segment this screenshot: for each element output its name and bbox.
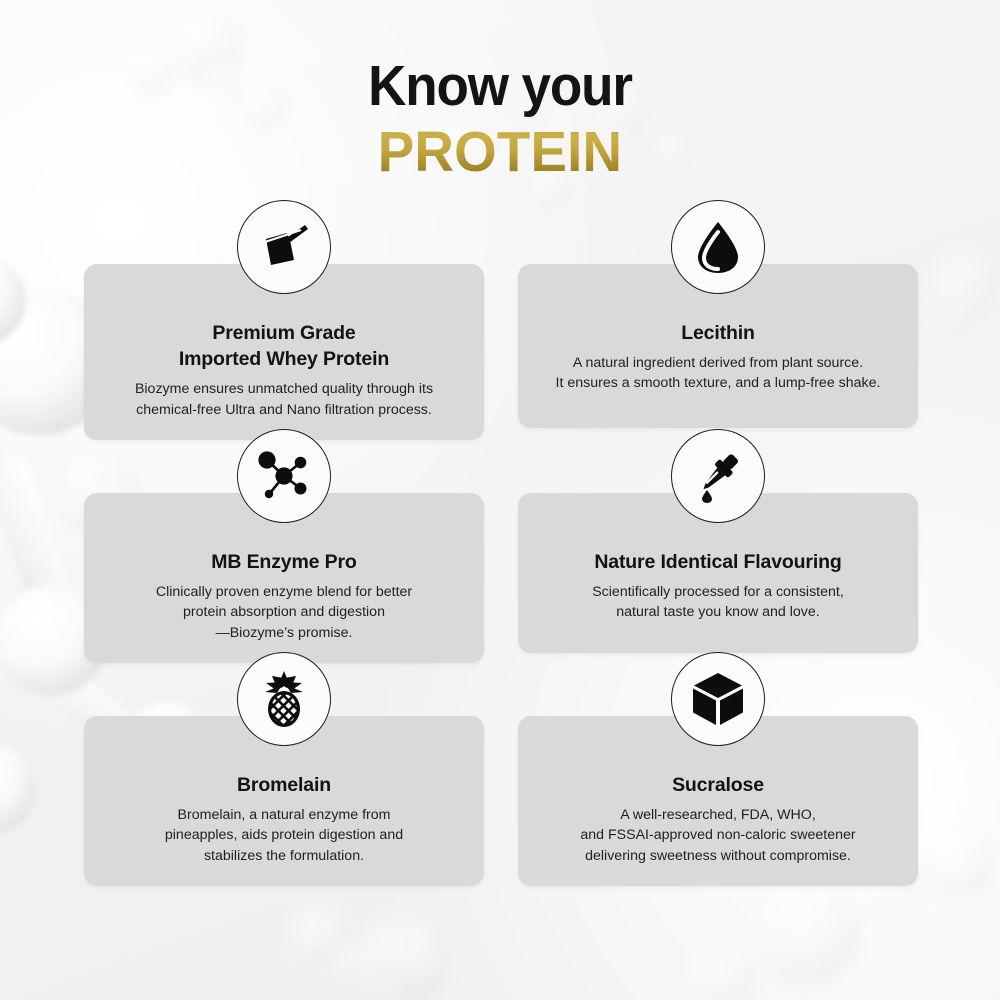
water-drop-icon <box>671 200 765 294</box>
card-title: Nature Identical Flavouring <box>536 549 900 575</box>
molecule-network-icon <box>237 429 331 523</box>
sugar-cube-icon <box>671 652 765 746</box>
ingredient-card-grid: Premium Grade Imported Whey Protein Bioz… <box>84 264 918 886</box>
card-description: A natural ingredient derived from plant … <box>536 353 900 394</box>
ingredient-card-lecithin: Lecithin A natural ingredient derived fr… <box>518 264 918 440</box>
card-description: Biozyme ensures unmatched quality throug… <box>102 379 466 420</box>
protein-scoop-icon <box>237 200 331 294</box>
card-surface: Nature Identical Flavouring Scientifical… <box>518 493 918 653</box>
card-description: Clinically proven enzyme blend for bette… <box>102 582 466 643</box>
card-surface: Premium Grade Imported Whey Protein Bioz… <box>84 264 484 440</box>
page-title-line1: Know your <box>35 58 965 115</box>
card-title: Bromelain <box>102 772 466 798</box>
card-surface: Sucralose A well-researched, FDA, WHO, a… <box>518 716 918 886</box>
card-title: Sucralose <box>536 772 900 798</box>
card-title: MB Enzyme Pro <box>102 549 466 575</box>
card-title: Lecithin <box>536 320 900 346</box>
ingredient-card-mb-enzyme-pro: MB Enzyme Pro Clinically proven enzyme b… <box>84 493 484 663</box>
card-surface: MB Enzyme Pro Clinically proven enzyme b… <box>84 493 484 663</box>
pineapple-icon <box>237 652 331 746</box>
ingredient-card-premium-grade-imported-whey-protein: Premium Grade Imported Whey Protein Bioz… <box>84 264 484 440</box>
card-surface: Bromelain Bromelain, a natural enzyme fr… <box>84 716 484 886</box>
card-surface: Lecithin A natural ingredient derived fr… <box>518 264 918 428</box>
ingredient-card-nature-identical-flavouring: Nature Identical Flavouring Scientifical… <box>518 493 918 663</box>
page-title-line2: PROTEIN <box>20 124 980 181</box>
card-title: Premium Grade Imported Whey Protein <box>102 320 466 372</box>
dropper-pipette-icon <box>671 429 765 523</box>
card-description: Bromelain, a natural enzyme from pineapp… <box>102 805 466 866</box>
ingredient-card-bromelain: Bromelain Bromelain, a natural enzyme fr… <box>84 716 484 886</box>
ingredient-card-sucralose: Sucralose A well-researched, FDA, WHO, a… <box>518 716 918 886</box>
card-description: A well-researched, FDA, WHO, and FSSAI-a… <box>536 805 900 866</box>
page-title: Know your PROTEIN <box>0 58 1000 181</box>
infographic-page: Know your PROTEIN Premium Grade Imported… <box>0 0 1000 1000</box>
card-description: Scientifically processed for a consisten… <box>536 582 900 623</box>
